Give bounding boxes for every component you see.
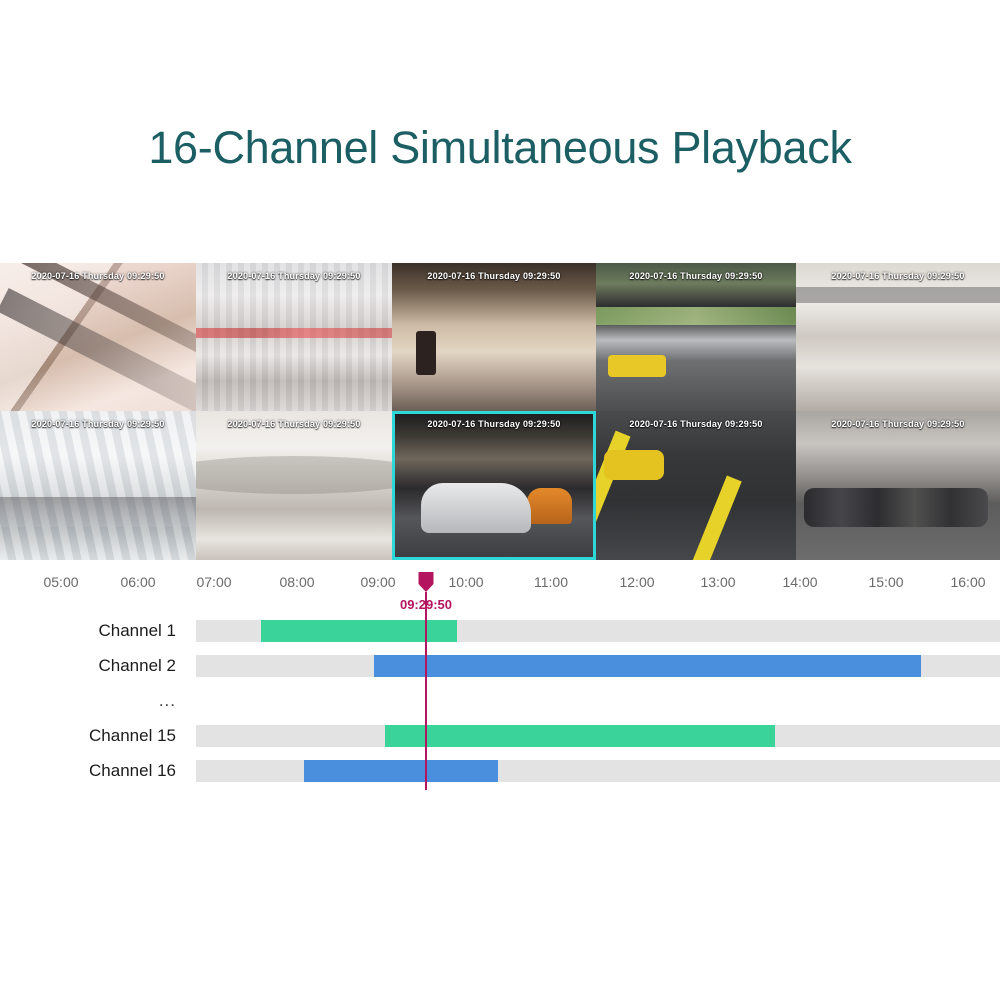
channel-track[interactable] <box>196 655 1000 677</box>
camera-feed-image <box>796 411 1000 560</box>
timeline-tick-label: 16:00 <box>950 572 985 592</box>
video-grid: 2020-07-16 Thursday 09:29:502020-07-16 T… <box>0 263 1000 560</box>
channel-tile-4[interactable]: 2020-07-16 Thursday 09:29:50 <box>596 263 796 411</box>
channel-label: Channel 2 <box>0 648 176 683</box>
channel-track[interactable] <box>196 725 1000 747</box>
camera-feed-image <box>0 411 196 560</box>
channel-tile-9[interactable]: 2020-07-16 Thursday 09:29:50 <box>596 411 796 560</box>
camera-feed-image <box>196 263 392 411</box>
camera-feed-image <box>596 263 796 411</box>
channel-tile-6[interactable]: 2020-07-16 Thursday 09:29:50 <box>0 411 196 560</box>
camera-feed-image <box>196 411 392 560</box>
playhead-marker-icon[interactable] <box>419 572 434 592</box>
recording-segment[interactable] <box>261 620 457 642</box>
channel-tile-5[interactable]: 2020-07-16 Thursday 09:29:50 <box>796 263 1000 411</box>
channel-label: Channel 16 <box>0 753 176 788</box>
channel-label: ... <box>0 683 176 718</box>
timeline-row-ellipsis: ... <box>0 683 1000 718</box>
recording-segment[interactable] <box>304 760 498 782</box>
timeline-tick-label: 13:00 <box>700 572 735 592</box>
channel-tile-2[interactable]: 2020-07-16 Thursday 09:29:50 <box>196 263 392 411</box>
channel-tile-8[interactable]: 2020-07-16 Thursday 09:29:50 <box>392 411 596 560</box>
channel-label: Channel 15 <box>0 718 176 753</box>
channel-label: Channel 1 <box>0 613 176 648</box>
timeline-tick-label: 08:00 <box>279 572 314 592</box>
camera-feed-image <box>0 263 196 411</box>
timeline-tick-label: 14:00 <box>782 572 817 592</box>
timeline-row-channel-1: Channel 1 <box>0 613 1000 648</box>
channel-tile-10[interactable]: 2020-07-16 Thursday 09:29:50 <box>796 411 1000 560</box>
timeline-tick-label: 11:00 <box>534 572 568 592</box>
channel-track[interactable] <box>196 760 1000 782</box>
timeline-row-channel-15: Channel 15 <box>0 718 1000 753</box>
playhead-line <box>425 592 427 790</box>
timeline-tick-label: 12:00 <box>619 572 654 592</box>
timeline-axis[interactable]: 05:0006:0007:0008:0009:0010:0011:0012:00… <box>0 572 1000 596</box>
camera-feed-image <box>392 263 596 411</box>
channel-tile-1[interactable]: 2020-07-16 Thursday 09:29:50 <box>0 263 196 411</box>
timeline-tick-label: 10:00 <box>448 572 483 592</box>
timeline-tick-label: 05:00 <box>43 572 78 592</box>
page-title: 16-Channel Simultaneous Playback <box>0 118 1000 178</box>
timeline-rows: Channel 1Channel 2...Channel 15Channel 1… <box>0 613 1000 788</box>
camera-feed-image <box>596 411 796 560</box>
channel-tile-3[interactable]: 2020-07-16 Thursday 09:29:50 <box>392 263 596 411</box>
timeline-tick-label: 07:00 <box>196 572 231 592</box>
recording-segment[interactable] <box>385 725 775 747</box>
timeline-tick-label: 15:00 <box>868 572 903 592</box>
playback-timeline[interactable]: 05:0006:0007:0008:0009:0010:0011:0012:00… <box>0 560 1000 790</box>
timeline-row-channel-2: Channel 2 <box>0 648 1000 683</box>
channel-tile-7[interactable]: 2020-07-16 Thursday 09:29:50 <box>196 411 392 560</box>
timeline-tick-label: 09:00 <box>360 572 395 592</box>
camera-feed-image <box>796 263 1000 411</box>
timeline-tick-label: 06:00 <box>120 572 155 592</box>
timeline-row-channel-16: Channel 16 <box>0 753 1000 788</box>
recording-segment[interactable] <box>374 655 921 677</box>
camera-feed-image <box>392 411 596 560</box>
channel-track[interactable] <box>196 620 1000 642</box>
